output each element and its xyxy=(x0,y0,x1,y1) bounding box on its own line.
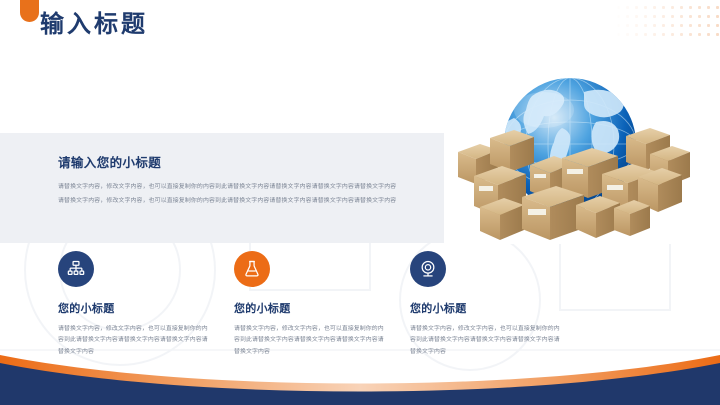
feature-title: 您的小标题 xyxy=(234,300,410,316)
org-chart-icon xyxy=(66,259,86,279)
lead-paragraph: 请替换文字内容，修改文字内容，也可以直接复制你的内容到此请替换文字内容请替换文字… xyxy=(58,196,403,208)
flask-icon xyxy=(242,259,262,279)
feature-body: 请替换文字内容，修改文字内容，也可以直接复制你的内容到此请替换文字内容请替换文字… xyxy=(58,324,208,358)
feature-columns: 您的小标题 请替换文字内容，修改文字内容，也可以直接复制你的内容到此请替换文字内… xyxy=(58,251,678,358)
lead-title: 请输入您的小标题 xyxy=(58,152,403,171)
webcam-icon-circle[interactable] xyxy=(410,251,446,287)
globe-with-parcels-image xyxy=(444,48,696,244)
webcam-icon xyxy=(418,259,438,279)
feature-title: 您的小标题 xyxy=(58,300,234,316)
feature-body: 请替换文字内容，修改文字内容，也可以直接复制你的内容到此请替换文字内容请替换文字… xyxy=(234,324,384,358)
feature-body: 请替换文字内容，修改文字内容，也可以直接复制你的内容到此请替换文字内容请替换文字… xyxy=(410,324,560,358)
hero-image-card xyxy=(444,48,696,244)
title-accent-bar xyxy=(20,0,39,22)
lead-text-block: 请输入您的小标题 请替换文字内容，修改文字内容，也可以直接复制你的内容到此请替换… xyxy=(58,152,403,209)
slide-canvas: 输入标题 xyxy=(0,0,720,405)
feature-column-3: 您的小标题 请替换文字内容，修改文字内容，也可以直接复制你的内容到此请替换文字内… xyxy=(410,251,586,358)
org-chart-icon-circle[interactable] xyxy=(58,251,94,287)
lead-paragraph: 请替换文字内容，修改文字内容，也可以直接复制你的内容到此请替换文字内容请替换文字… xyxy=(58,182,403,194)
feature-title: 您的小标题 xyxy=(410,300,586,316)
feature-column-1: 您的小标题 请替换文字内容，修改文字内容，也可以直接复制你的内容到此请替换文字内… xyxy=(58,251,234,358)
page-title: 输入标题 xyxy=(40,13,148,37)
feature-column-2: 您的小标题 请替换文字内容，修改文字内容，也可以直接复制你的内容到此请替换文字内… xyxy=(234,251,410,358)
dot-grid-decoration xyxy=(614,0,720,40)
flask-icon-circle[interactable] xyxy=(234,251,270,287)
